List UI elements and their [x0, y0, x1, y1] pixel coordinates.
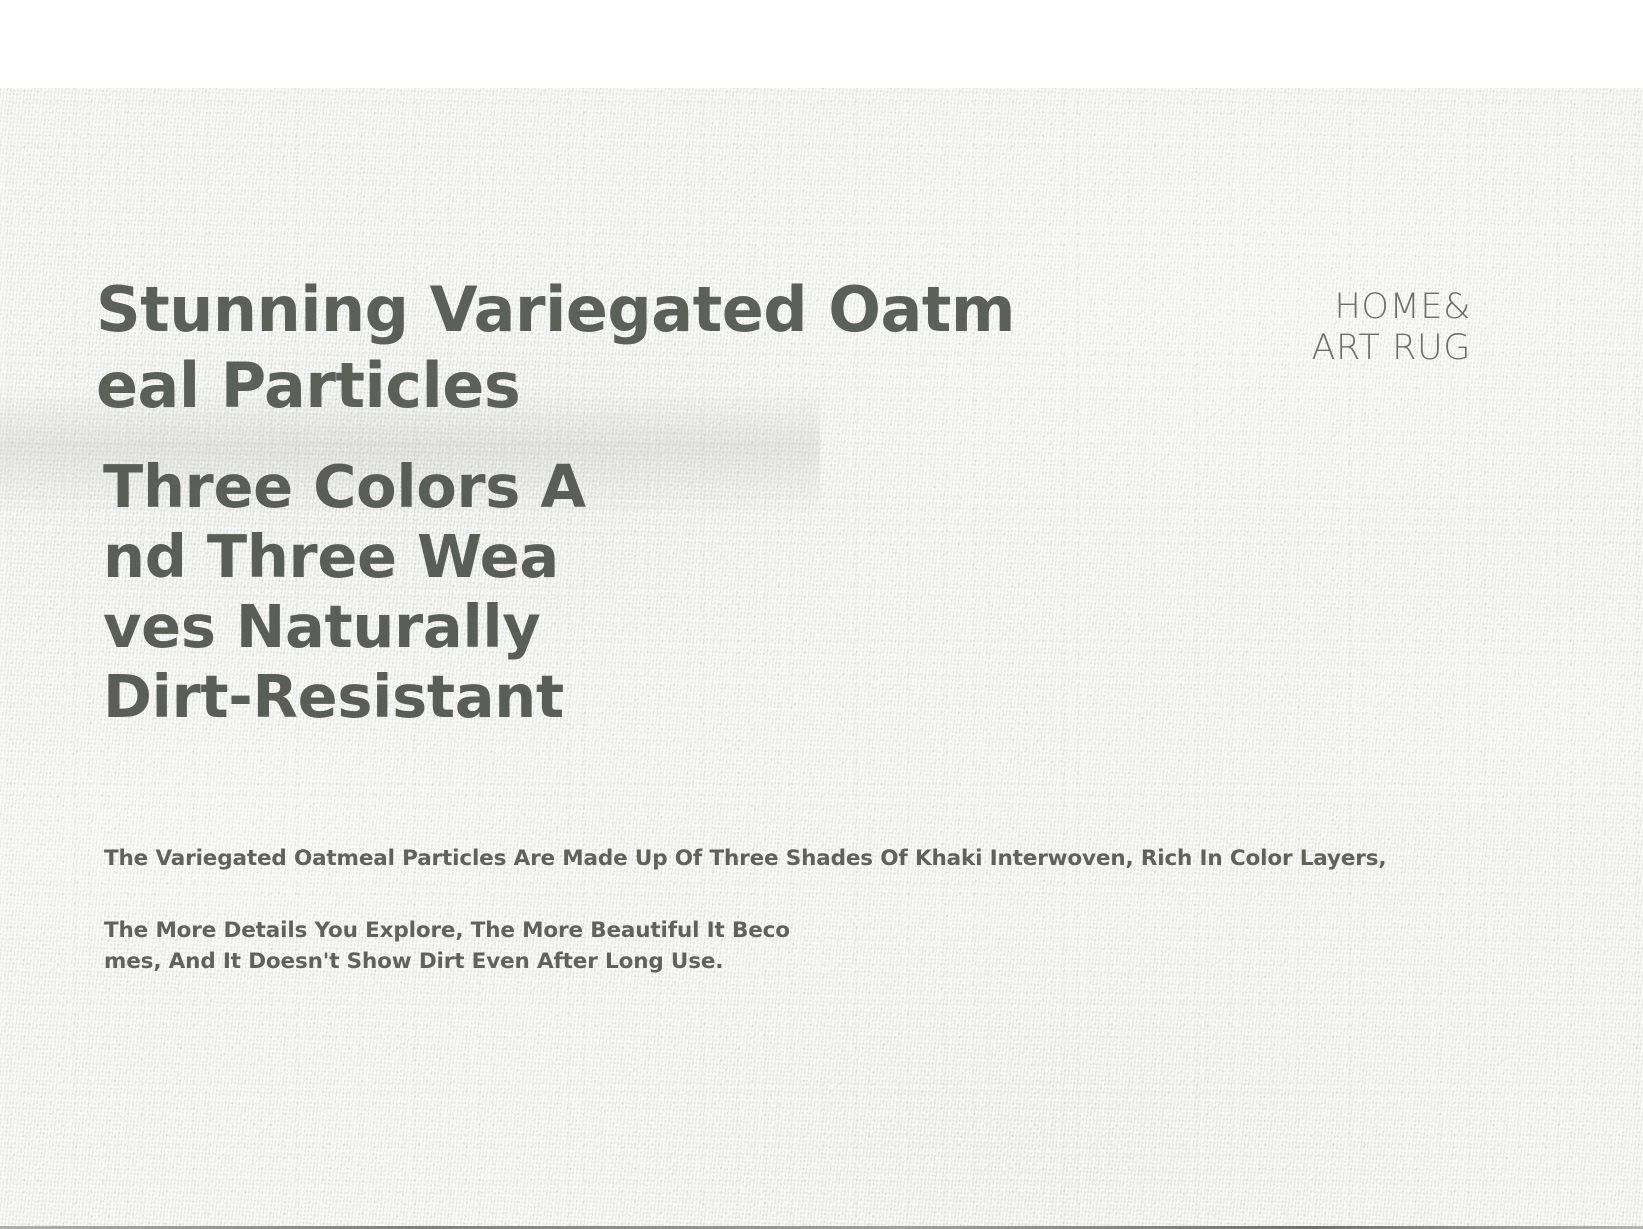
product-banner: Stunning Variegated Oatm eal Particles T… — [0, 0, 1643, 1229]
body-paragraph-1: The Variegated Oatmeal Particles Are Mad… — [104, 843, 1624, 874]
headline-primary: Stunning Variegated Oatm eal Particles — [96, 272, 1036, 424]
brand-logo: HOME& ART RUG — [1312, 287, 1471, 369]
headline-feature: Three Colors A nd Three Wea ves Naturall… — [103, 452, 743, 732]
body-paragraph-2: The More Details You Explore, The More B… — [104, 915, 894, 977]
body-copy: The Variegated Oatmeal Particles Are Mad… — [104, 843, 1624, 977]
top-white-band — [0, 0, 1643, 88]
banner-content: Stunning Variegated Oatm eal Particles T… — [0, 0, 1643, 1229]
